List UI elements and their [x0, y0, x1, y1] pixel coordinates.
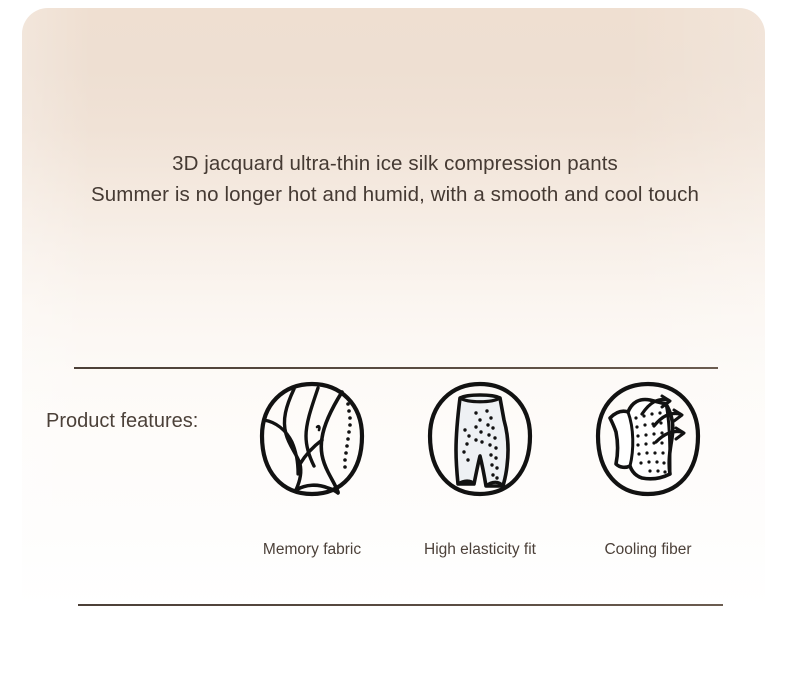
high-elasticity-fit-icon — [424, 380, 536, 498]
product-feature-banner: 3D jacquard ultra-thin ice silk compress… — [0, 0, 790, 691]
divider-bottom — [78, 604, 723, 606]
feature-item-high-elasticity-fit: High elasticity fit — [400, 380, 560, 560]
feature-item-cooling-fiber: Cooling fiber — [568, 380, 728, 560]
memory-fabric-icon — [256, 380, 368, 498]
feature-caption: Memory fabric — [232, 540, 392, 560]
product-features-label: Product features: — [46, 407, 198, 435]
divider-top — [74, 367, 718, 369]
feature-caption: High elasticity fit — [400, 540, 560, 560]
feature-caption: Cooling fiber — [568, 540, 728, 560]
features-row: Memory fabric — [232, 380, 732, 570]
headline: 3D jacquard ultra-thin ice silk compress… — [0, 148, 790, 210]
headline-line-1: 3D jacquard ultra-thin ice silk compress… — [0, 148, 790, 179]
headline-line-2: Summer is no longer hot and humid, with … — [0, 179, 790, 210]
feature-item-memory-fabric: Memory fabric — [232, 380, 392, 560]
cooling-fiber-icon — [592, 380, 704, 498]
